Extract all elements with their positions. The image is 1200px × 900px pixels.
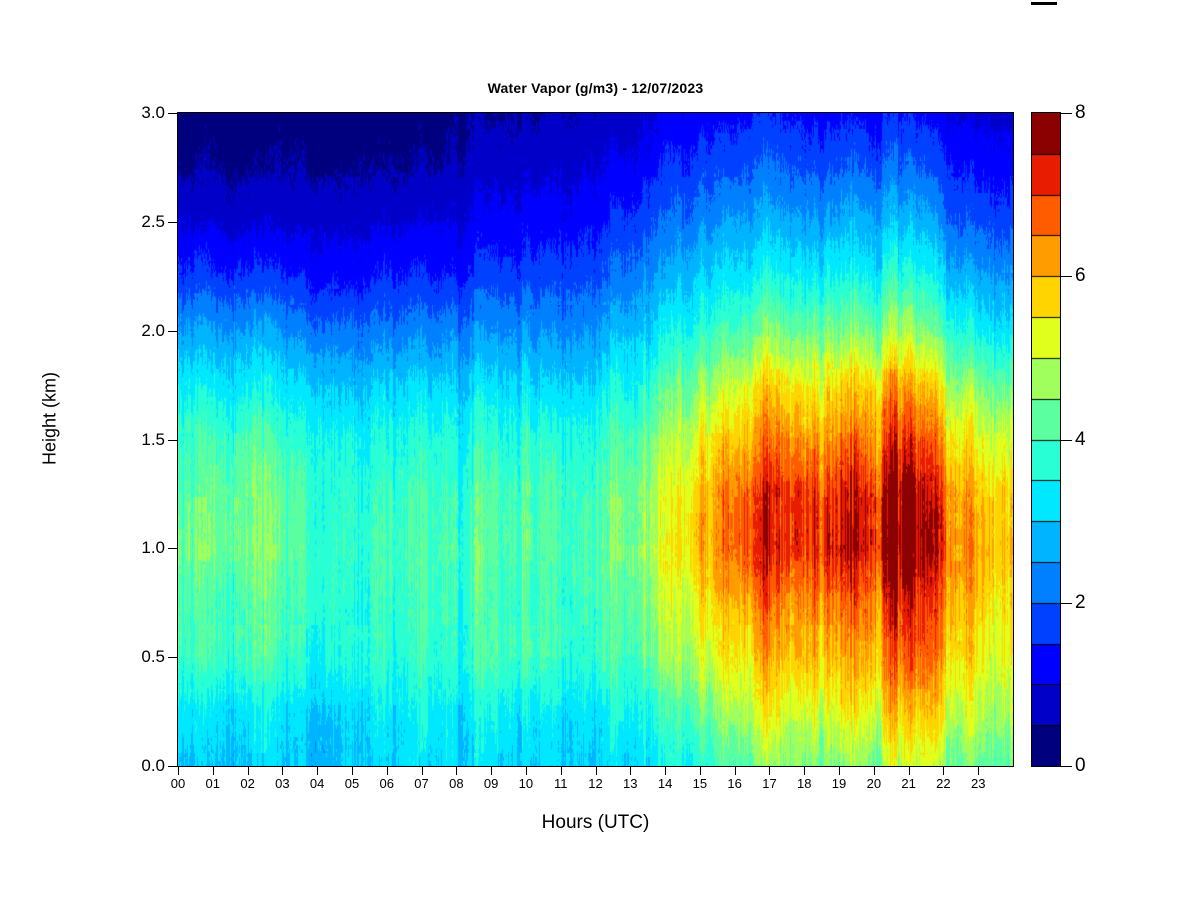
x-tick-label: 04: [310, 776, 324, 791]
y-tick-mark: [168, 766, 178, 767]
colorbar-gradient: [1032, 113, 1060, 766]
x-tick-mark: [491, 767, 492, 775]
x-tick-label: 12: [588, 776, 602, 791]
x-tick-label: 08: [449, 776, 463, 791]
x-tick-label: 15: [693, 776, 707, 791]
y-tick-mark: [168, 548, 178, 549]
x-tick-mark: [874, 767, 875, 775]
colorbar-tick-mark: [1061, 276, 1072, 277]
x-tick-label: 23: [971, 776, 985, 791]
x-tick-mark: [422, 767, 423, 775]
colorbar-tick-label: 6: [1075, 265, 1086, 287]
colorbar-tick-mark: [1061, 113, 1072, 114]
x-tick-label: 11: [554, 776, 568, 791]
water-vapor-figure: Water Vapor (g/m3) - 12/07/2023 0.00.51.…: [0, 0, 1200, 900]
x-tick-label: 14: [658, 776, 672, 791]
y-tick-label: 1.5: [141, 430, 165, 450]
x-tick-label: 06: [380, 776, 394, 791]
y-tick-mark: [168, 331, 178, 332]
colorbar-tick-label: 0: [1075, 755, 1086, 777]
y-tick-label: 2.5: [141, 212, 165, 232]
x-tick-label: 18: [797, 776, 811, 791]
x-tick-mark: [630, 767, 631, 775]
x-tick-mark: [213, 767, 214, 775]
x-tick-mark: [596, 767, 597, 775]
colorbar-tick-mark: [1061, 440, 1072, 441]
x-tick-mark: [665, 767, 666, 775]
x-tick-mark: [526, 767, 527, 775]
x-tick-mark: [282, 767, 283, 775]
x-tick-mark: [700, 767, 701, 775]
page-title: Water Vapor (g/m3) - 12/07/2023: [178, 80, 1013, 96]
x-tick-label: 03: [275, 776, 289, 791]
x-tick-mark: [317, 767, 318, 775]
x-tick-label: 20: [867, 776, 881, 791]
x-tick-label: 05: [345, 776, 359, 791]
y-tick-mark: [168, 657, 178, 658]
y-tick-mark: [168, 113, 178, 114]
x-tick-mark: [248, 767, 249, 775]
x-tick-mark: [943, 767, 944, 775]
x-tick-label: 02: [240, 776, 254, 791]
x-tick-mark: [735, 767, 736, 775]
y-tick-label: 3.0: [141, 103, 165, 123]
x-tick-mark: [178, 767, 179, 775]
x-tick-label: 17: [762, 776, 776, 791]
x-tick-mark: [804, 767, 805, 775]
colorbar-tick-mark: [1061, 766, 1072, 767]
x-tick-label: 09: [484, 776, 498, 791]
x-tick-mark: [561, 767, 562, 775]
x-tick-label: 21: [901, 776, 915, 791]
x-tick-mark: [769, 767, 770, 775]
y-tick-label: 2.0: [141, 321, 165, 341]
y-axis-title: Height (km): [40, 339, 61, 499]
x-axis-title: Hours (UTC): [178, 812, 1013, 834]
colorbar-tick-mark: [1061, 603, 1072, 604]
x-tick-mark: [387, 767, 388, 775]
y-tick-label: 1.0: [141, 538, 165, 558]
x-tick-mark: [839, 767, 840, 775]
x-tick-label: 01: [206, 776, 220, 791]
colorbar-tick-label: 8: [1075, 102, 1086, 124]
x-tick-label: 13: [623, 776, 637, 791]
x-tick-mark: [456, 767, 457, 775]
x-tick-label: 10: [519, 776, 533, 791]
stray-black-line-artifact: [1031, 2, 1057, 5]
x-tick-label: 00: [171, 776, 185, 791]
y-tick-label: 0.0: [141, 756, 165, 776]
x-tick-label: 22: [936, 776, 950, 791]
x-tick-mark: [909, 767, 910, 775]
colorbar-tick-label: 4: [1075, 429, 1086, 451]
y-tick-mark: [168, 440, 178, 441]
colorbar-tick-label: 2: [1075, 592, 1086, 614]
x-tick-mark: [978, 767, 979, 775]
water-vapor-heatmap: [178, 113, 1013, 766]
x-tick-mark: [352, 767, 353, 775]
y-tick-label: 0.5: [141, 647, 165, 667]
x-tick-label: 07: [414, 776, 428, 791]
x-tick-label: 16: [727, 776, 741, 791]
y-tick-mark: [168, 222, 178, 223]
x-tick-label: 19: [832, 776, 846, 791]
